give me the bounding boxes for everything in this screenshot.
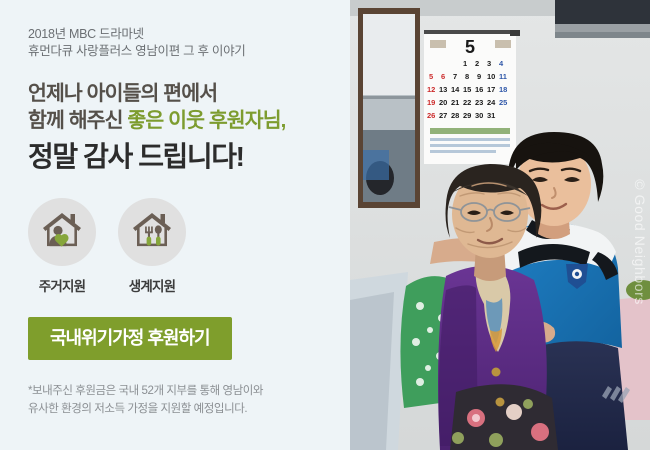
eyebrow-line-1: 2018년 MBC 드라마넷: [28, 26, 350, 43]
svg-text:10: 10: [487, 72, 495, 81]
svg-text:31: 31: [487, 111, 495, 120]
svg-text:16: 16: [475, 85, 483, 94]
support-item-label: 주거지원: [28, 275, 96, 295]
svg-text:12: 12: [427, 85, 435, 94]
photo-illustration: 5 1234 567891011 12131415161718 19202122…: [350, 0, 650, 450]
house-with-fork-spoon-icon: [130, 209, 174, 256]
house-with-person-heart-icon: [40, 209, 84, 256]
support-icon-circle: [28, 198, 96, 266]
svg-text:14: 14: [451, 85, 460, 94]
svg-text:1: 1: [463, 59, 467, 68]
svg-text:24: 24: [487, 98, 496, 107]
svg-text:17: 17: [487, 85, 495, 94]
support-icon-circle: [118, 198, 186, 266]
svg-text:7: 7: [453, 72, 457, 81]
svg-text:26: 26: [427, 111, 435, 120]
svg-text:11: 11: [499, 72, 507, 81]
support-item-label: 생계지원: [118, 275, 186, 295]
svg-text:15: 15: [463, 85, 471, 94]
headline-line-2: 함께 해주신 좋은 이웃 후원자님,: [28, 107, 350, 134]
svg-text:9: 9: [477, 72, 481, 81]
svg-text:29: 29: [463, 111, 471, 120]
svg-text:20: 20: [439, 98, 447, 107]
support-item-housing[interactable]: 주거지원: [28, 198, 96, 295]
footnote-text: *보내주신 후원금은 국내 52개 지부를 통해 영남이와 유사한 환경의 저소…: [28, 382, 328, 418]
headline-line-1: 언제나 아이들의 편에서: [28, 80, 350, 107]
headline-line-3: 정말 감사 드립니다!: [28, 138, 350, 176]
footnote-line-1: *보내주신 후원금은 국내 52개 지부를 통해 영남이와: [28, 382, 328, 400]
svg-text:19: 19: [427, 98, 435, 107]
svg-text:27: 27: [439, 111, 447, 120]
support-items-row: 주거지원: [28, 198, 350, 295]
headline-line-2-accent: 좋은 이웃 후원자님,: [127, 109, 285, 132]
footnote-line-2: 유사한 환경의 저소득 가정을 지원할 예정입니다.: [28, 400, 328, 418]
donate-button[interactable]: 국내위기가정 후원하기: [28, 317, 232, 360]
svg-text:8: 8: [465, 72, 469, 81]
svg-text:23: 23: [475, 98, 483, 107]
svg-text:18: 18: [499, 85, 507, 94]
svg-text:28: 28: [451, 111, 459, 120]
svg-text:13: 13: [439, 85, 447, 94]
headline-line-2-prefix: 함께 해주신: [28, 109, 127, 132]
eyebrow-text: 2018년 MBC 드라마넷 휴먼다큐 사랑플러스 영남이편 그 후 이야기: [28, 26, 350, 60]
svg-text:6: 6: [441, 72, 445, 81]
svg-text:25: 25: [499, 98, 507, 107]
svg-text:3: 3: [487, 59, 491, 68]
svg-text:2: 2: [475, 59, 479, 68]
svg-text:30: 30: [475, 111, 483, 120]
left-content-panel: 2018년 MBC 드라마넷 휴먼다큐 사랑플러스 영남이편 그 후 이야기 언…: [0, 0, 350, 450]
svg-text:5: 5: [465, 37, 475, 57]
svg-text:5: 5: [429, 72, 433, 81]
photo-grandmother-and-boy: 5 1234 567891011 12131415161718 19202122…: [350, 0, 650, 450]
headline-block: 언제나 아이들의 편에서 함께 해주신 좋은 이웃 후원자님, 정말 감사 드립…: [28, 80, 350, 176]
svg-text:22: 22: [463, 98, 471, 107]
donation-banner: 2018년 MBC 드라마넷 휴먼다큐 사랑플러스 영남이편 그 후 이야기 언…: [0, 0, 650, 450]
svg-text:21: 21: [451, 98, 459, 107]
support-item-living[interactable]: 생계지원: [118, 198, 186, 295]
eyebrow-line-2: 휴먼다큐 사랑플러스 영남이편 그 후 이야기: [28, 43, 350, 60]
